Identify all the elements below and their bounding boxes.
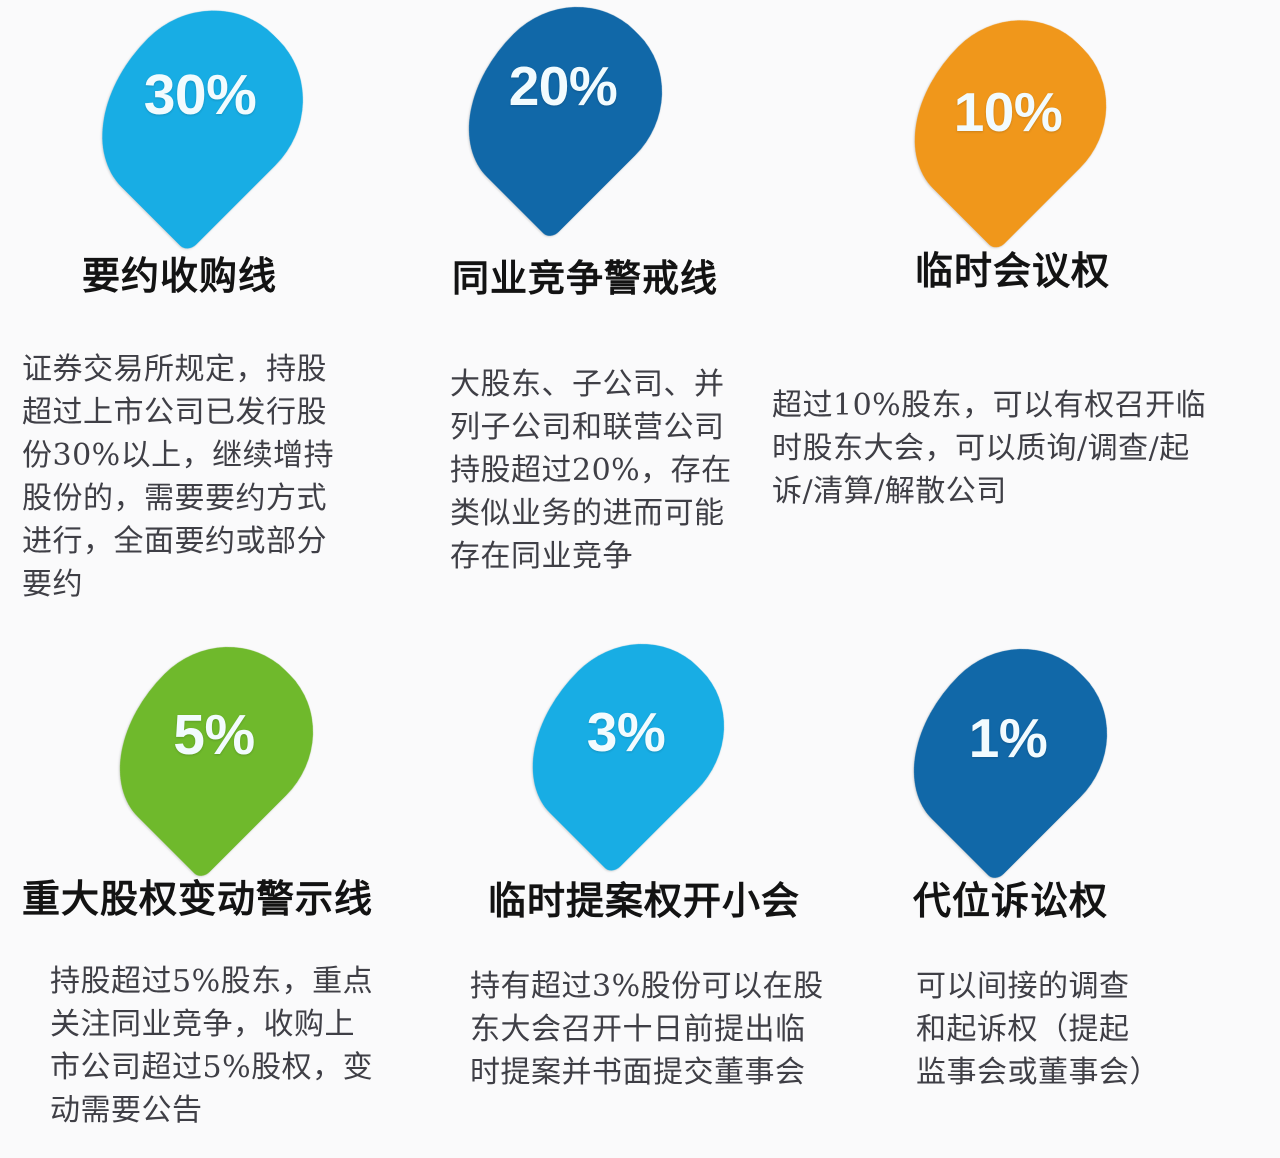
description-10-percent: 超过10%股东，可以有权召开临 时股东大会，可以质询/调查/起 诉/清算/解散公… (772, 384, 1280, 513)
card-10-percent: 10% 临时会议权 超过10%股东，可以有权召开临 时股东大会，可以质询/调查/… (760, 0, 1280, 620)
pin-label-5: 5% (128, 702, 300, 768)
title-interim-proposal-right: 临时提案权开小会 (488, 870, 800, 925)
card-1-percent: 1% 代位诉讼权 可以间接的调查 和起诉权（提起 监事会或董事会） (880, 630, 1280, 1158)
pin-5-percent: 5% (128, 642, 300, 850)
pin-20-percent: 20% (477, 2, 649, 210)
title-horizontal-competition-warning-line: 同业竞争警戒线 (452, 248, 718, 302)
card-3-percent: 3% 临时提案权开小会 持有超过3%股份可以在股 东大会召开十日前提出临 时提案… (460, 630, 880, 1158)
title-derivative-action-right: 代位诉讼权 (913, 870, 1108, 925)
title-offer-acquisition-line: 要约收购线 (82, 245, 277, 300)
description-1-percent: 可以间接的调查 和起诉权（提起 监事会或董事会） (916, 965, 1276, 1094)
pin-10-percent: 10% (922, 16, 1094, 221)
pin-3-percent: 3% (542, 638, 710, 846)
pin-label-3: 3% (542, 700, 710, 764)
shareholding-threshold-infographic: 30% 要约收购线 证券交易所规定，持股 超过上市公司已发行股 份30%以上，继… (0, 0, 1280, 1158)
card-30-percent: 30% 要约收购线 证券交易所规定，持股 超过上市公司已发行股 份30%以上，继… (0, 0, 430, 620)
pin-label-30: 30% (110, 62, 290, 128)
title-interim-meeting-right: 临时会议权 (915, 240, 1110, 295)
pin-label-20: 20% (477, 54, 649, 118)
description-5-percent: 持股超过5%股东，重点 关注同业竞争，收购上 市公司超过5%股权，变 动需要公告 (50, 960, 450, 1132)
title-major-equity-change-warning-line: 重大股权变动警示线 (22, 868, 373, 923)
pin-shape-icon (429, 0, 698, 240)
card-5-percent: 5% 重大股权变动警示线 持股超过5%股东，重点 关注同业竞争，收购上 市公司超… (0, 630, 460, 1158)
description-30-percent: 证券交易所规定，持股 超过上市公司已发行股 份30%以上，继续增持 股份的，需要… (22, 348, 402, 606)
description-20-percent: 大股东、子公司、并 列子公司和联营公司 持股超过20%，存在 类似业务的进而可能… (450, 363, 780, 578)
description-3-percent: 持有超过3%股份可以在股 东大会召开十日前提出临 时提案并书面提交董事会 (470, 965, 880, 1094)
pin-label-10: 10% (922, 80, 1094, 144)
pin-1-percent: 1% (922, 644, 1094, 852)
pin-label-1: 1% (922, 706, 1094, 770)
pin-30-percent: 30% (110, 6, 290, 221)
